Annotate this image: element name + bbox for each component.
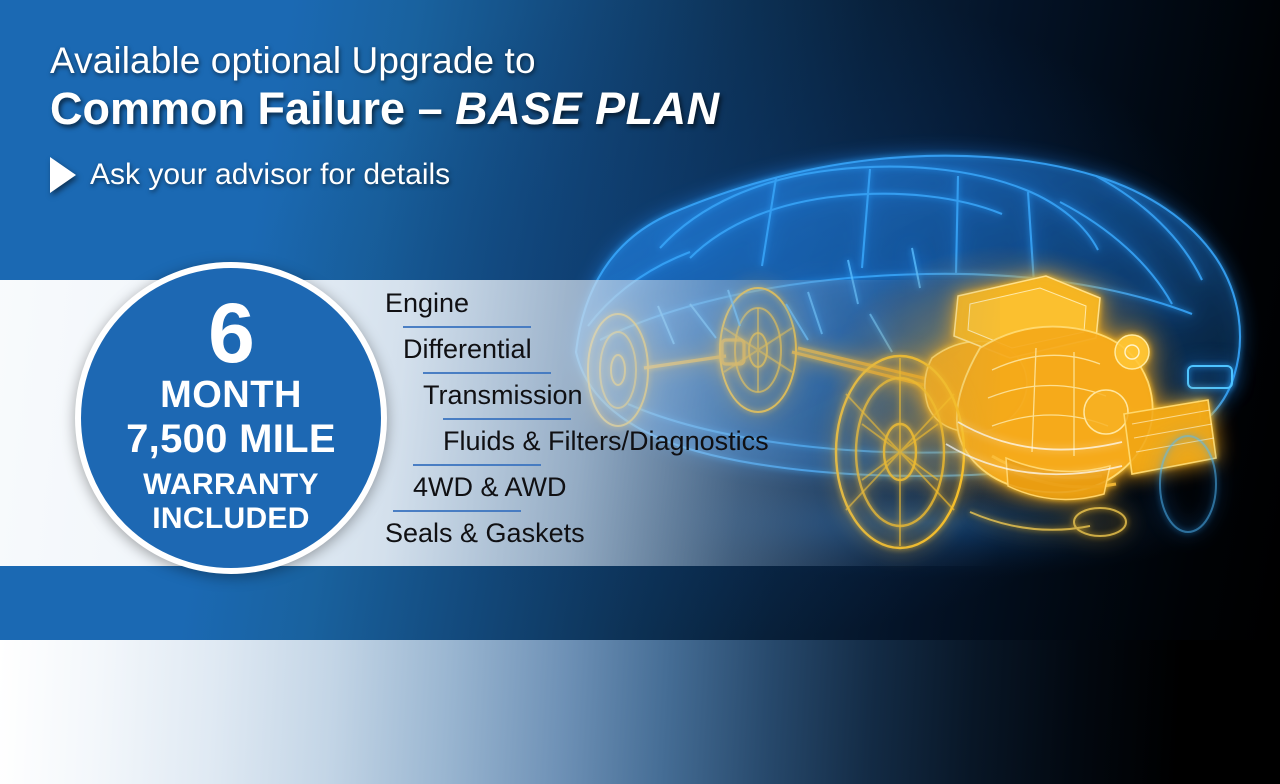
coverage-item-4wd-awd: 4WD & AWD	[413, 466, 855, 501]
headline-plan-name: Common Failure	[50, 83, 405, 134]
coverage-item-differential: Differential	[403, 328, 855, 363]
coverage-item-transmission: Transmission	[423, 374, 855, 409]
coverage-item-fluids-filters-diagnostics: Fluids & Filters/Diagnostics	[443, 420, 855, 455]
headline-dash: –	[418, 83, 443, 134]
badge-warranty-label: WARRANTY	[143, 468, 319, 502]
badge-mileage: 7,500 MILE	[126, 418, 336, 460]
coverage-item-engine: Engine	[385, 282, 855, 317]
headline-block: Available optional Upgrade to Common Fai…	[50, 40, 810, 193]
coverage-item-seals-gaskets: Seals & Gaskets	[385, 512, 855, 547]
play-triangle-icon	[50, 157, 76, 193]
cta-label: Ask your advisor for details	[90, 158, 450, 192]
footer-bar: ® PREFERRED WARRANTIES INC. BrokersAndSe…	[0, 640, 1280, 784]
badge-included-label: INCLUDED	[152, 502, 309, 536]
warranty-badge: 6 MONTH 7,500 MILE WARRANTY INCLUDED	[75, 262, 387, 574]
badge-term-number: 6	[208, 295, 254, 372]
badge-term-unit: MONTH	[160, 376, 302, 416]
coverage-list: Engine Differential Transmission Fluids …	[385, 282, 855, 547]
cta-row[interactable]: Ask your advisor for details	[50, 157, 810, 193]
hero-background: Available optional Upgrade to Common Fai…	[0, 0, 1280, 640]
headline-line-2: Common Failure – BASE PLAN	[50, 84, 810, 134]
promotional-banner: Available optional Upgrade to Common Fai…	[0, 0, 1280, 784]
headline-plan-accent: BASE PLAN	[455, 83, 720, 134]
headline-line-1: Available optional Upgrade to	[50, 40, 810, 81]
